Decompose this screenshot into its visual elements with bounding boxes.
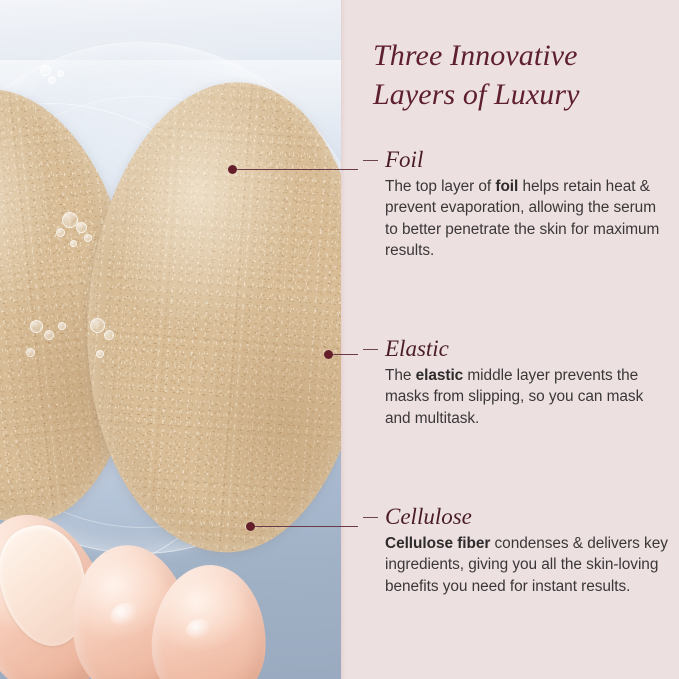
serum-bubble [40, 65, 51, 76]
page-title-line-1: Three Innovative [373, 39, 578, 72]
product-photo [0, 0, 341, 679]
connector-dot-elastic [324, 350, 333, 359]
section-foil-body: The top layer of foil helps retain heat … [385, 176, 669, 261]
serum-bubble [84, 234, 92, 242]
serum-bubble [57, 70, 64, 77]
hand-holding-patches [0, 457, 310, 679]
section-foil-heading: Foil [385, 148, 669, 171]
serum-bubble [48, 76, 56, 84]
section-elastic-body-prefix: The [385, 367, 416, 384]
section-cellulose-body-bold: Cellulose fiber [385, 535, 490, 552]
connector-line-elastic [332, 354, 358, 355]
section-elastic-body: The elastic middle layer prevents the ma… [385, 365, 669, 429]
serum-bubble [90, 318, 105, 333]
serum-bubble [44, 330, 54, 340]
section-cellulose-heading: Cellulose [385, 505, 669, 528]
section-elastic-body-bold: elastic [416, 367, 464, 384]
section-dash-icon [363, 349, 378, 350]
page-title-line-2: Layers of Luxury [373, 78, 580, 111]
infographic-root: Three Innovative Layers of Luxury Foil T… [0, 0, 679, 679]
section-dash-icon [363, 160, 378, 161]
section-elastic-heading: Elastic [385, 337, 669, 360]
section-elastic: Elastic The elastic middle layer prevent… [363, 337, 669, 429]
panel-left-edge [341, 0, 345, 679]
connector-dot-foil [228, 165, 237, 174]
serum-bubble [76, 222, 87, 233]
serum-bubble [96, 350, 104, 358]
serum-bubble [70, 240, 77, 247]
serum-bubble [26, 348, 35, 357]
serum-bubble [58, 322, 66, 330]
serum-bubble [30, 320, 43, 333]
text-panel: Three Innovative Layers of Luxury Foil T… [341, 0, 679, 679]
section-cellulose: Cellulose Cellulose fiber condenses & de… [363, 505, 669, 597]
serum-bubble [104, 330, 114, 340]
connector-dot-cellulose [246, 522, 255, 531]
page-title: Three Innovative Layers of Luxury [373, 36, 673, 114]
serum-bubble [56, 228, 65, 237]
section-foil-body-prefix: The top layer of [385, 178, 495, 195]
connector-line-foil [236, 169, 358, 170]
section-cellulose-body: Cellulose fiber condenses & delivers key… [385, 533, 669, 597]
section-foil: Foil The top layer of foil helps retain … [363, 148, 669, 261]
connector-line-cellulose [254, 526, 358, 527]
section-foil-body-bold: foil [495, 178, 518, 195]
section-dash-icon [363, 517, 378, 518]
